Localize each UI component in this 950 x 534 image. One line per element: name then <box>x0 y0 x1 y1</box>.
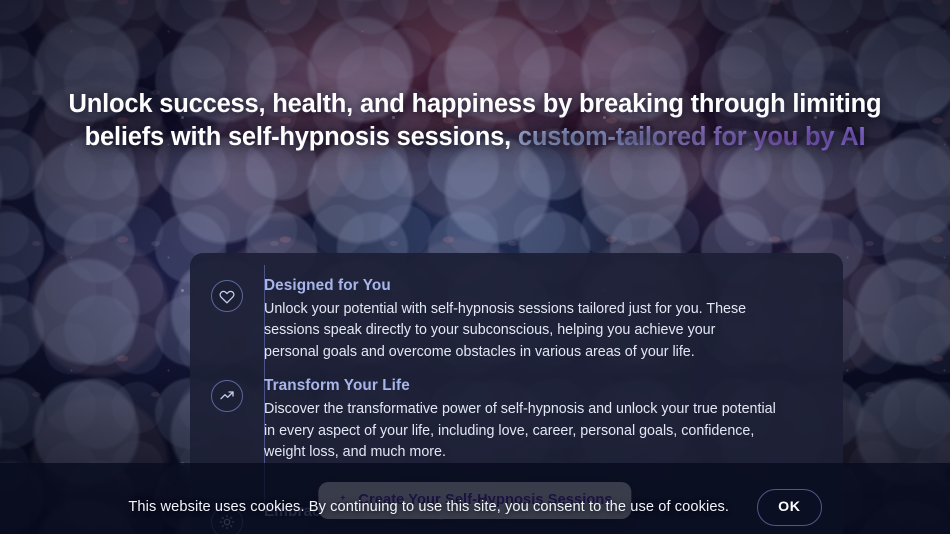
feature-marker <box>190 275 264 363</box>
feature-icon-badge <box>211 380 243 412</box>
trending-up-icon <box>219 388 235 404</box>
feature-title: Designed for You <box>264 275 809 297</box>
feature-description: Discover the transformative power of sel… <box>264 399 776 463</box>
page-root: Unlock success, health, and happiness by… <box>0 0 950 534</box>
feature-marker <box>190 375 264 463</box>
hero-line-1: Unlock success, health, and happiness by… <box>69 90 786 118</box>
cookie-consent-banner: This website uses cookies. By continuing… <box>0 480 950 534</box>
feature-item: Transform Your Life Discover the transfo… <box>190 375 843 463</box>
cookie-ok-button[interactable]: OK <box>757 489 821 526</box>
heart-icon <box>219 288 235 304</box>
hero-section: Unlock success, health, and happiness by… <box>0 88 950 153</box>
feature-description: Unlock your potential with self-hypnosis… <box>264 299 764 363</box>
feature-body: Designed for You Unlock your potential w… <box>264 275 817 363</box>
cookie-message: This website uses cookies. By continuing… <box>128 497 729 517</box>
feature-icon-badge <box>211 280 243 312</box>
feature-title: Transform Your Life <box>264 375 809 397</box>
hero-accent-text: custom-tailored for you by AI <box>511 123 865 151</box>
feature-item: Designed for You Unlock your potential w… <box>190 275 843 363</box>
page-title: Unlock success, health, and happiness by… <box>52 88 898 153</box>
feature-body: Transform Your Life Discover the transfo… <box>264 375 817 463</box>
